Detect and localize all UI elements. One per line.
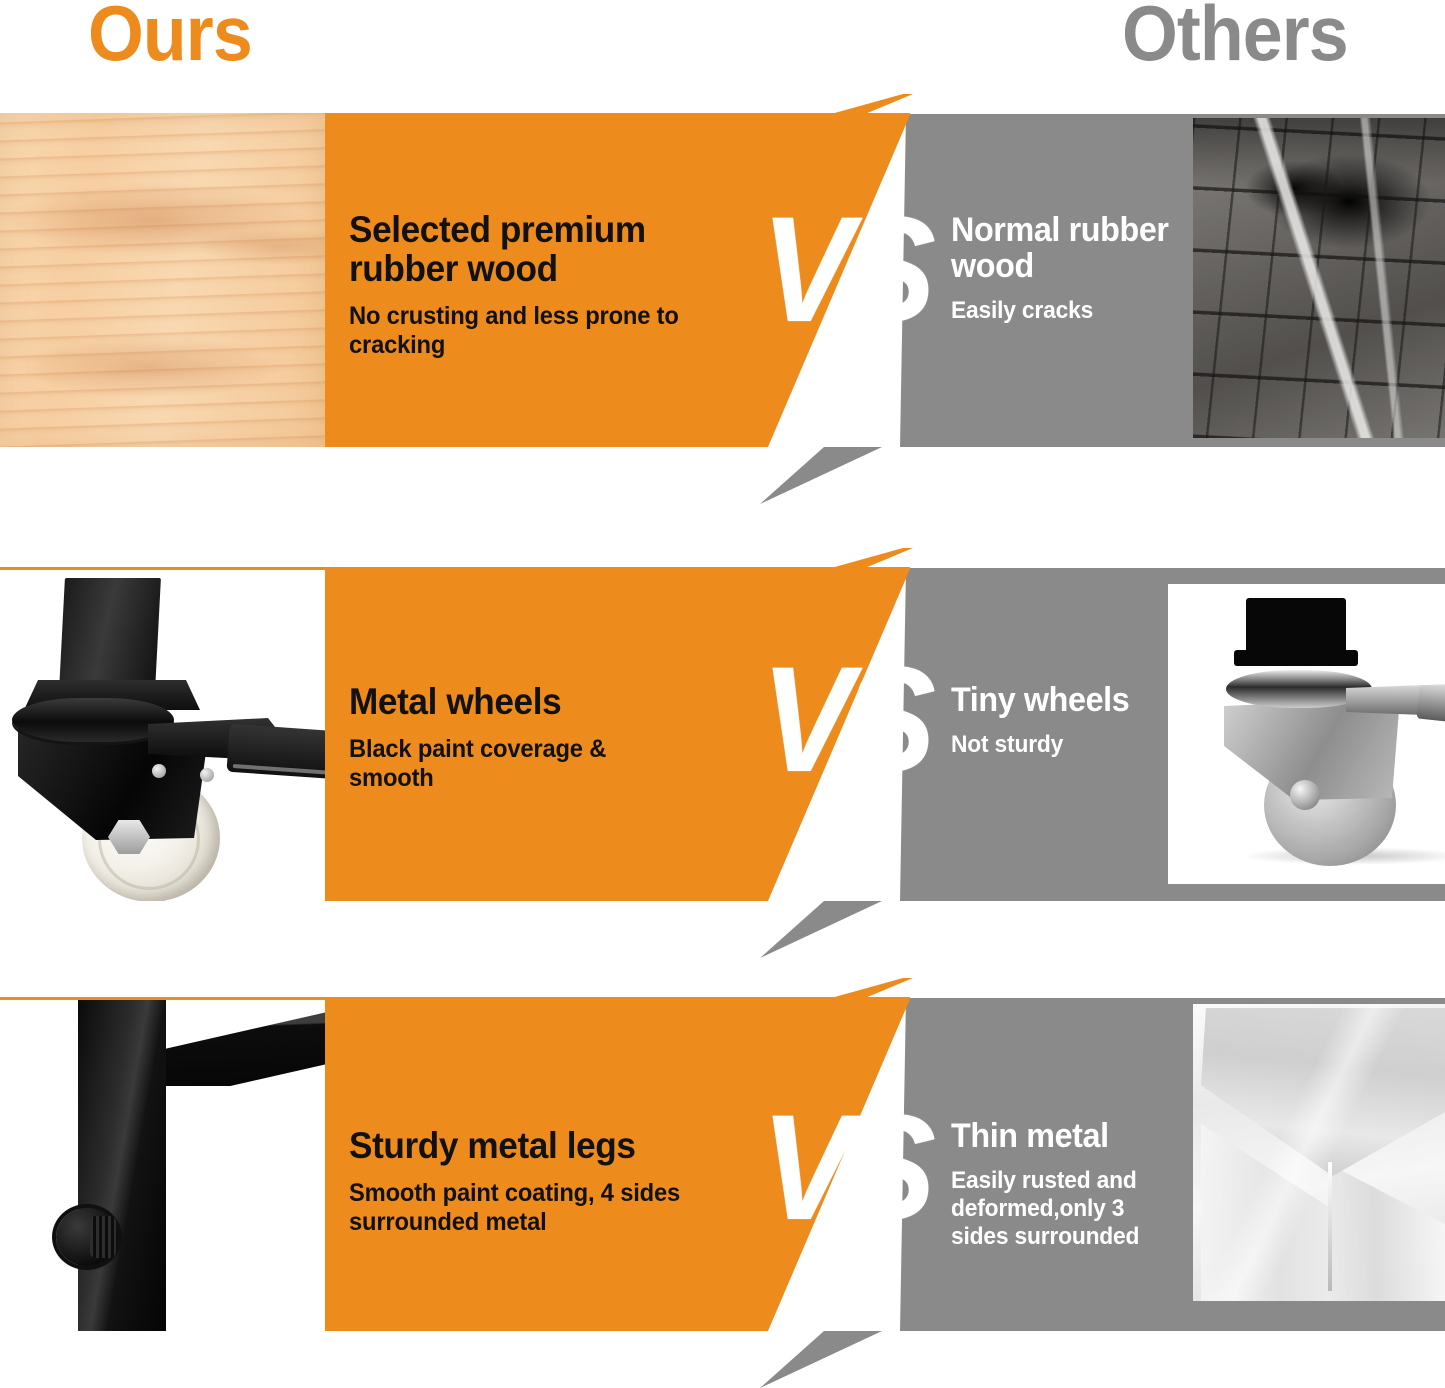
- ours-title-row-1: Selected premium rubber wood: [349, 210, 691, 288]
- ours-subtitle-row-3: Smooth paint coating, 4 sides surrounded…: [349, 1179, 701, 1237]
- others-header-title: Others: [1122, 0, 1348, 72]
- stainless-corner-surface: [1193, 1004, 1445, 1301]
- others-title-row-2: Tiny wheels: [951, 682, 1198, 718]
- vs-badge-row-1: VS: [761, 194, 927, 344]
- others-subtitle-row-2: Not sturdy: [951, 731, 1198, 759]
- ours-subtitle-row-2: Black paint coverage & smooth: [349, 735, 625, 793]
- others-text-block-row-2: Tiny wheels Not sturdy: [951, 682, 1211, 759]
- others-text-block-row-3: Thin metal Easily rusted and deformed,on…: [951, 1118, 1201, 1251]
- ours-text-block-row-3: Sturdy metal legs Smooth paint coating, …: [349, 1126, 749, 1237]
- ours-title-row-3: Sturdy metal legs: [349, 1126, 729, 1165]
- comparison-row-rubber-wood: Selected premium rubber wood No crusting…: [0, 102, 1445, 502]
- ours-title-row-2: Metal wheels: [349, 682, 729, 721]
- ours-header-title: Ours: [88, 0, 252, 72]
- caster-table-leg: [59, 578, 161, 690]
- cracked-wood-photo: [1193, 118, 1445, 438]
- wood-grain-texture: [0, 113, 325, 447]
- comparison-row-wheels: Metal wheels Black paint coverage & smoo…: [0, 556, 1445, 956]
- vs-badge-row-2: VS: [761, 644, 927, 794]
- tiny-caster-brake-pedal: [1417, 685, 1445, 730]
- legs-studio-backdrop: [0, 1000, 325, 1331]
- metal-leg-adjust-knob: [56, 1208, 118, 1266]
- others-subtitle-row-3: Easily rusted and deformed,only 3 sides …: [951, 1167, 1179, 1250]
- caster-brake-pedal: [226, 724, 325, 781]
- tiny-caster-leg-cap: [1246, 598, 1346, 656]
- others-title-row-3: Thin metal: [951, 1118, 1189, 1154]
- thin-stainless-corner-photo: [1193, 1004, 1445, 1301]
- ours-text-block-row-1: Selected premium rubber wood No crusting…: [349, 210, 709, 360]
- metal-leg-upright: [78, 1000, 166, 1331]
- cracked-wood-texture: [1193, 118, 1445, 438]
- caster-screw-right: [200, 768, 214, 782]
- ours-subtitle-row-1: No crusting and less prone to cracking: [349, 302, 682, 360]
- caster-screw-left: [152, 764, 166, 778]
- others-title-row-1: Normal rubber wood: [951, 212, 1184, 284]
- black-metal-caster-wheel-photo: [0, 570, 325, 901]
- caster-studio-backdrop: [0, 570, 325, 901]
- comparison-row-metal-legs: Sturdy metal legs Smooth paint coating, …: [0, 986, 1445, 1382]
- tiny-caster-axle-bolt: [1290, 780, 1320, 810]
- premium-rubber-wood-grain-photo: [0, 113, 325, 447]
- black-metal-leg-photo: [0, 1000, 325, 1331]
- stainless-gloss-highlight: [1193, 1004, 1445, 1301]
- vs-badge-row-3: VS: [761, 1092, 927, 1242]
- metal-leg-crossbar: [160, 1008, 325, 1086]
- ours-text-block-row-2: Metal wheels Black paint coverage & smoo…: [349, 682, 749, 793]
- others-text-block-row-1: Normal rubber wood Easily cracks: [951, 212, 1211, 325]
- others-subtitle-row-1: Easily cracks: [951, 297, 1198, 325]
